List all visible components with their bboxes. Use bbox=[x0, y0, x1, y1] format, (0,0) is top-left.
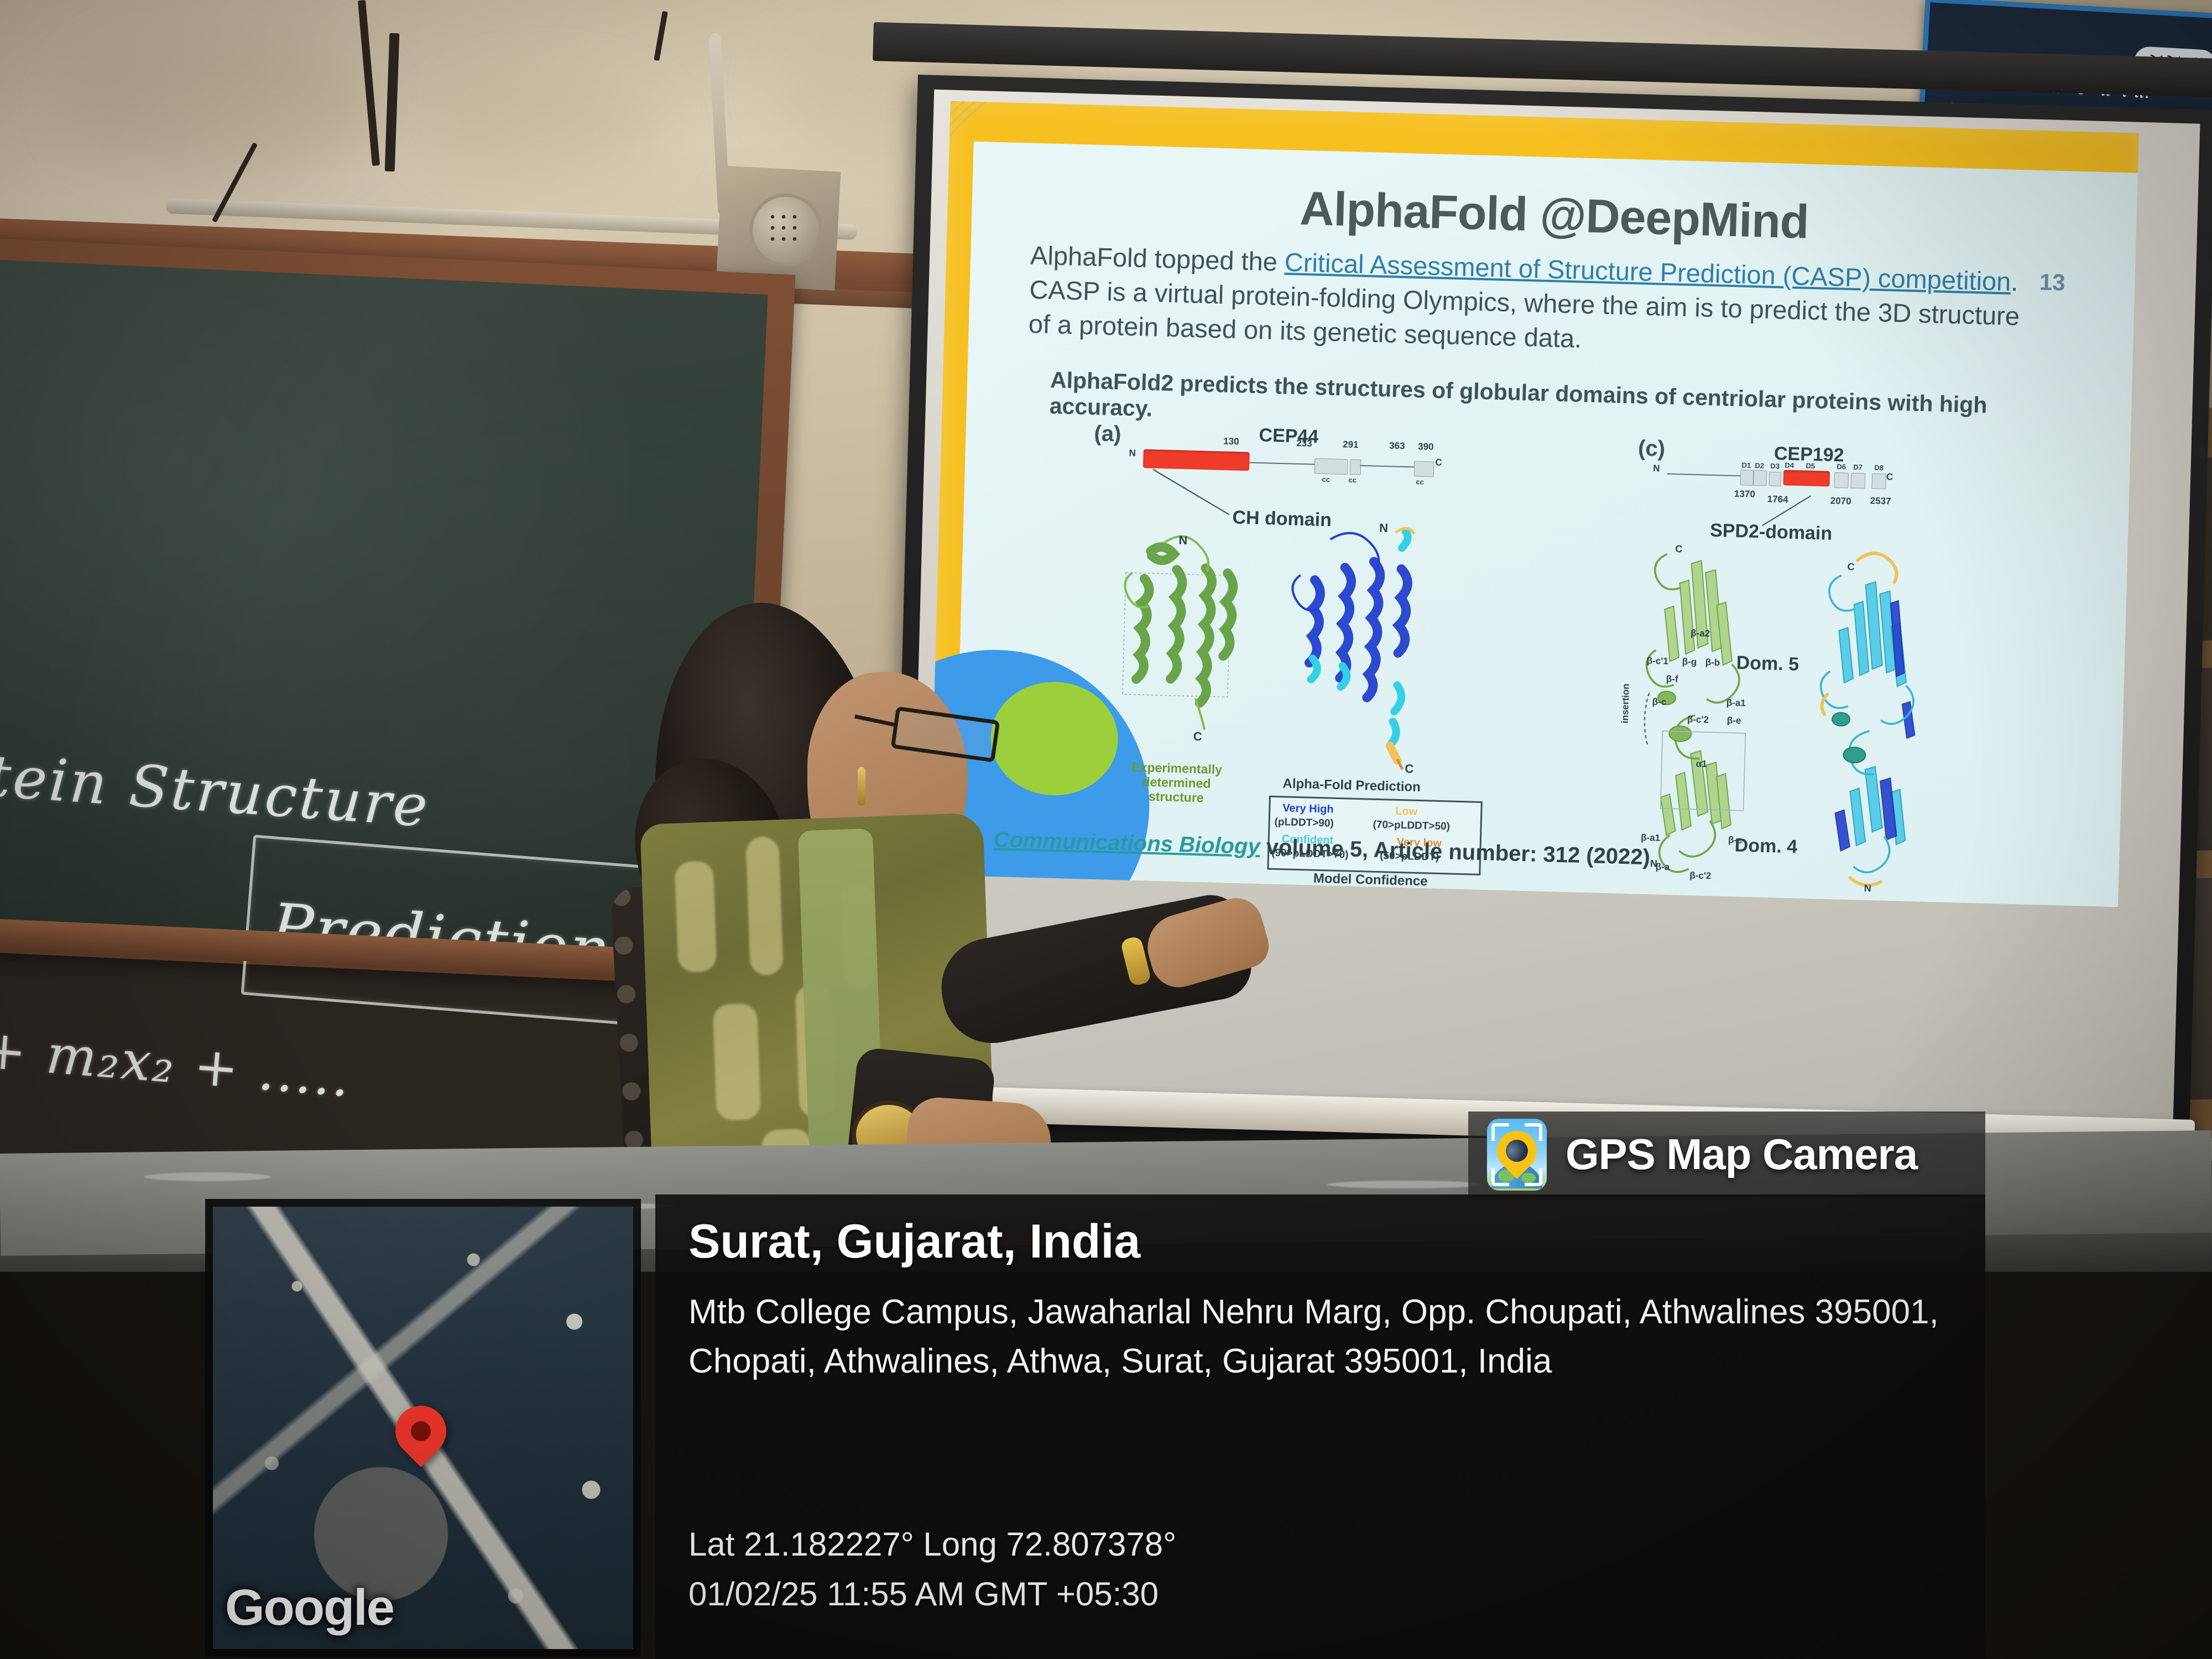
svg-text:N: N bbox=[1178, 533, 1188, 547]
gps-app-name: GPS Map Camera bbox=[1566, 1129, 1917, 1180]
gps-city-label: Surat, Gujarat, India bbox=[688, 1214, 1140, 1269]
panel-c-domain-block bbox=[1871, 473, 1886, 489]
panel-c-backbone bbox=[1667, 473, 1743, 477]
slide-body-text: AlphaFold topped the Critical Assessment… bbox=[1028, 238, 2096, 370]
body-pre: AlphaFold topped the bbox=[1030, 241, 1285, 276]
panel-a-terminus-n: N bbox=[1129, 448, 1136, 459]
panel-a-label: (a) bbox=[1094, 421, 1121, 447]
corner-bracket-icon bbox=[1491, 1123, 1509, 1141]
panel-c-domain-d2: D2 bbox=[1755, 461, 1764, 469]
gps-address-label: Mtb College Campus, Jawaharlal Nehru Mar… bbox=[688, 1287, 1958, 1386]
panel-a-res-233: 233 bbox=[1296, 438, 1312, 450]
panel-a-backbone bbox=[1249, 462, 1317, 465]
panel-a-caption-left: Experimentally determined structure bbox=[1099, 759, 1255, 806]
legend-label-very-high: Very High bbox=[1282, 802, 1334, 816]
panel-a-cc-block bbox=[1350, 459, 1361, 475]
legend-range-low: (70>pLDDT>50) bbox=[1373, 819, 1450, 833]
map-thumbnail[interactable]: Google bbox=[213, 1207, 633, 1649]
panel-a-cc-label: cc bbox=[1416, 478, 1424, 486]
strand-label: β-c'2 bbox=[1687, 714, 1709, 726]
slide-subtitle: AlphaFold2 predicts the structures of gl… bbox=[1049, 367, 2065, 447]
desk-texture bbox=[1327, 1181, 1482, 1188]
strand-label: β-a bbox=[1655, 862, 1670, 873]
panel-c-terminus-c: C bbox=[1886, 472, 1893, 483]
gps-coordinates-label: Lat 21.182227° Long 72.807378° bbox=[688, 1525, 1176, 1563]
wall-stain bbox=[431, 77, 664, 188]
panel-a-experimental-structure: N C bbox=[1105, 517, 1272, 754]
panel-a-cc-label: cc bbox=[1322, 475, 1330, 483]
svg-text:N: N bbox=[1379, 521, 1389, 535]
panel-c-domain-block bbox=[1768, 472, 1781, 487]
body-post: . bbox=[2011, 267, 2018, 296]
desk-texture bbox=[144, 1172, 271, 1181]
panel-c-domain-d1: D1 bbox=[1741, 461, 1751, 469]
strand-label: β-b bbox=[1705, 657, 1720, 669]
svg-text:N: N bbox=[1864, 883, 1872, 894]
panel-c-domain-block bbox=[1834, 472, 1849, 488]
strand-label: β-a2 bbox=[1691, 628, 1710, 639]
gps-map-camera-badge: GPS Map Camera bbox=[1468, 1112, 1985, 1197]
panel-c-domain-d4: D4 bbox=[1785, 461, 1794, 469]
vest-pattern bbox=[675, 860, 717, 972]
svg-text:C: C bbox=[1847, 561, 1855, 572]
panel-c-domain-d8: D8 bbox=[1874, 463, 1884, 472]
chalk-text-equation: x₁ + m₂x₂ + ..... bbox=[0, 1013, 353, 1109]
panel-c-domain-d3: D3 bbox=[1770, 462, 1780, 470]
strand-label: β-g bbox=[1682, 656, 1697, 668]
legend-range-very-high: (pLDDT>90) bbox=[1274, 816, 1334, 830]
panel-c-res-2537: 2537 bbox=[1870, 495, 1891, 507]
panel-a-res-363: 363 bbox=[1389, 440, 1405, 452]
panel-c-domain-block bbox=[1753, 470, 1767, 486]
panel-c-domain-d7: D7 bbox=[1853, 463, 1863, 471]
wall-stain bbox=[66, 33, 376, 177]
gps-timestamp-label: 01/02/25 11:55 AM GMT +05:30 bbox=[688, 1575, 1159, 1613]
panel-c-label: (c) bbox=[1638, 436, 1666, 461]
panel-c-domain-block bbox=[1850, 473, 1865, 489]
panel-c-domain-d6: D6 bbox=[1837, 462, 1846, 471]
caption-text: Experimentally determined structure bbox=[1131, 760, 1222, 805]
svg-text:C: C bbox=[1405, 761, 1414, 775]
strand-label: β-a1 bbox=[1641, 832, 1660, 844]
panel-a-terminus-c: C bbox=[1435, 457, 1442, 468]
svg-text:C: C bbox=[1675, 543, 1683, 554]
strand-label: β-a1 bbox=[1726, 697, 1746, 709]
legend-label-low: Low bbox=[1395, 805, 1418, 818]
presenter-earring bbox=[858, 767, 865, 806]
panel-a-caption-right: Alpha-Fold Prediction bbox=[1282, 776, 1421, 795]
strand-label: β-f bbox=[1666, 674, 1678, 685]
vest-pattern bbox=[713, 1003, 761, 1121]
panel-a-res-390: 390 bbox=[1418, 441, 1434, 453]
panel-a-cc-block bbox=[1314, 458, 1348, 475]
panel-a-cc-block bbox=[1414, 461, 1434, 477]
panel-c-res-2070: 2070 bbox=[1830, 495, 1851, 507]
panel-c-dom5-label: Dom. 5 bbox=[1736, 652, 1799, 675]
strand-label: β-e bbox=[1727, 715, 1741, 727]
corner-bracket-icon bbox=[1525, 1168, 1542, 1186]
panel-c-spd2-block bbox=[1783, 470, 1830, 487]
corner-bracket-icon bbox=[1491, 1168, 1509, 1186]
gps-map-camera-icon bbox=[1487, 1119, 1547, 1191]
panel-c-alphafold-structure: C N bbox=[1799, 536, 1991, 900]
strand-label: β-c bbox=[1652, 696, 1667, 708]
corner-bracket-icon bbox=[1525, 1123, 1542, 1141]
vest-pattern bbox=[745, 836, 784, 975]
screenshot-root: સૂચના કચરો ટોપલીમાં જ નાખવો. મોબાઈલ ફોન … bbox=[0, 0, 2212, 1659]
strand-label: β-c'1 bbox=[1647, 655, 1669, 667]
google-watermark: Google bbox=[225, 1579, 394, 1637]
strand-label: β-c'2 bbox=[1689, 870, 1712, 881]
panel-a-cc-label: cc bbox=[1348, 476, 1357, 484]
panel-a-res-130: 130 bbox=[1223, 436, 1239, 447]
panel-c-domain-block bbox=[1740, 469, 1754, 486]
panel-a-alphafold-structure: N C bbox=[1271, 513, 1444, 777]
model-confidence-title: Model Confidence bbox=[1313, 871, 1428, 890]
chalk-text-title: rotein Structure bbox=[0, 737, 432, 840]
slide-content-area: AlphaFold @DeepMind 13 AlphaFold topped … bbox=[954, 142, 2138, 907]
panel-c-domain-d5: D5 bbox=[1806, 462, 1815, 470]
presentation-slide: AlphaFold @DeepMind 13 AlphaFold topped … bbox=[930, 101, 2139, 907]
strand-label: α1 bbox=[1696, 759, 1707, 770]
gps-info-panel: Surat, Gujarat, India Mtb College Campus… bbox=[655, 1194, 1985, 1659]
panel-c-dom4-label: Dom. 4 bbox=[1734, 834, 1797, 858]
panel-a-backbone bbox=[1360, 465, 1415, 468]
insertion-label: insertion bbox=[1620, 684, 1632, 723]
panel-a-res-291: 291 bbox=[1343, 439, 1359, 451]
panel-c-terminus-n: N bbox=[1653, 463, 1660, 474]
svg-text:C: C bbox=[1193, 729, 1202, 743]
wall-speaker-icon bbox=[749, 194, 822, 267]
